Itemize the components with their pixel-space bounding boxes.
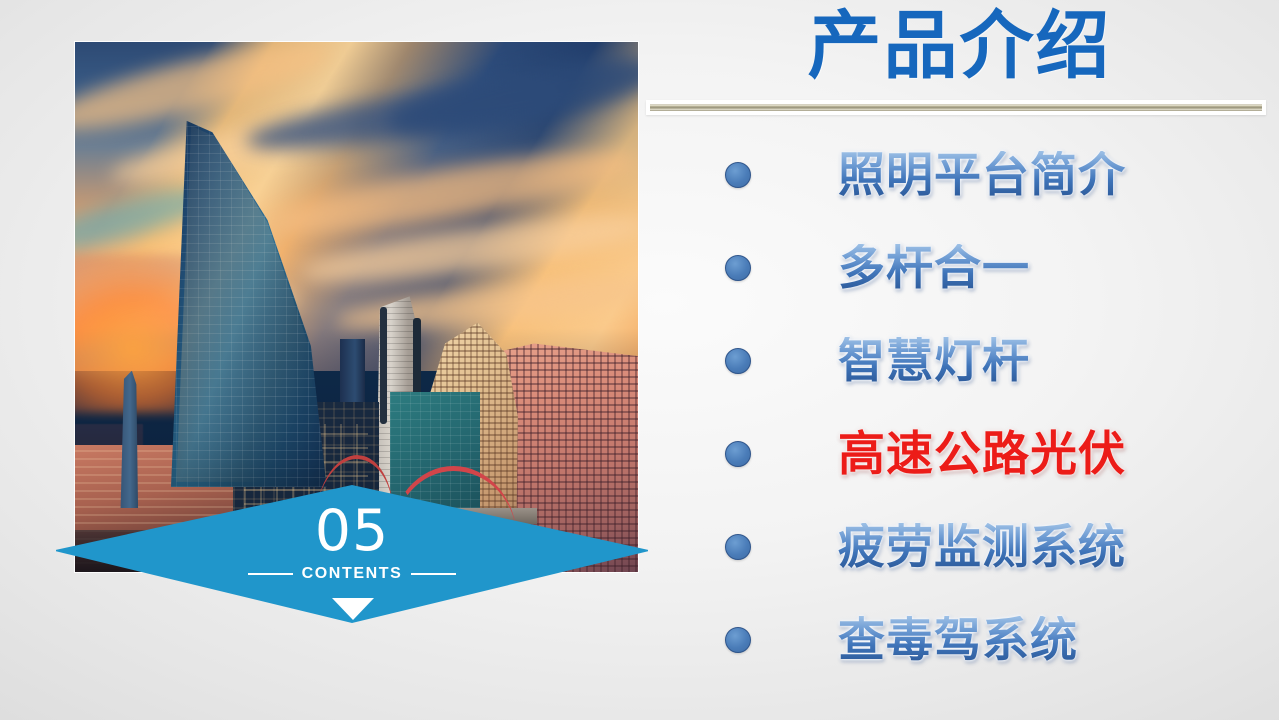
section-number: 05 (56, 503, 648, 560)
bullet-dot-icon (725, 162, 751, 188)
list-item-label: 查毒驾系统 (838, 616, 1078, 663)
list-item-highlighted[interactable]: 高速公路光伏 (700, 407, 1260, 500)
list-item[interactable]: 智慧灯杆 (700, 314, 1260, 407)
list-item-label: 多杆合一 (838, 244, 1030, 291)
list-item[interactable]: 照明平台简介 (700, 128, 1260, 221)
agenda-list: 照明平台简介 多杆合一 智慧灯杆 高速公路光伏 疲劳监测系统 查毒驾系统 (700, 128, 1260, 686)
bullet-dot-icon (725, 441, 751, 467)
contents-label: CONTENTS (302, 566, 403, 582)
down-triangle-icon (332, 598, 374, 620)
contents-label-group: CONTENTS (56, 566, 648, 582)
bullet-dot-icon (725, 627, 751, 653)
list-item-label: 高速公路光伏 (838, 430, 1126, 477)
bullet-dot-icon (725, 534, 751, 560)
title-divider (646, 100, 1266, 115)
list-item[interactable]: 多杆合一 (700, 221, 1260, 314)
bullet-dot-icon (725, 348, 751, 374)
list-item[interactable]: 查毒驾系统 (700, 593, 1260, 686)
list-item[interactable]: 疲劳监测系统 (700, 500, 1260, 593)
list-item-label: 智慧灯杆 (838, 337, 1030, 384)
tower-slot (380, 307, 387, 424)
list-item-label: 照明平台简介 (838, 151, 1126, 198)
divider-gold-bar (650, 104, 1262, 111)
rule-right-icon (411, 573, 456, 575)
list-item-label: 疲劳监测系统 (838, 523, 1126, 570)
slide-root: 05 CONTENTS 产品介绍 照明平台简介 多杆合一 智慧灯杆 高速公路光伏 (0, 0, 1279, 720)
page-title: 产品介绍 (640, 2, 1279, 89)
bullet-dot-icon (725, 255, 751, 281)
rule-left-icon (248, 573, 293, 575)
